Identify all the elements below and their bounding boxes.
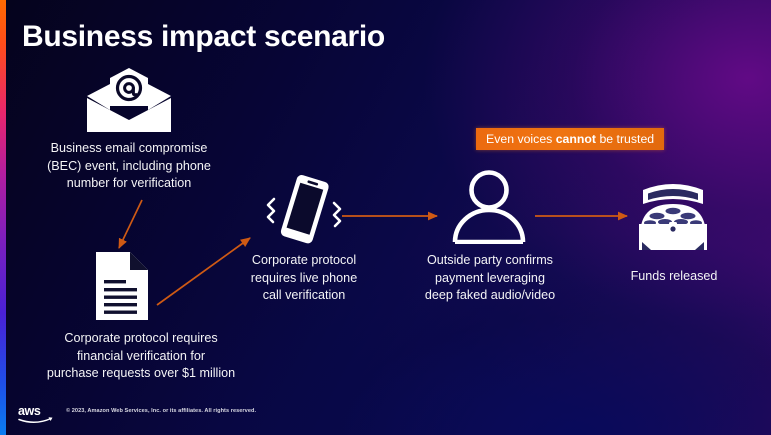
- callout-banner: Even voices cannot be trusted: [476, 128, 664, 150]
- caption-phone-verification: Corporate protocol requires live phone c…: [228, 252, 380, 305]
- slide-canvas: Business impact scenario: [0, 0, 771, 435]
- callout-emphasis: cannot: [556, 132, 596, 146]
- svg-text:aws: aws: [18, 404, 41, 418]
- caption-bec-email: Business email compromise (BEC) event, i…: [20, 140, 238, 193]
- left-gradient-accent-bar: [0, 0, 6, 435]
- callout-suffix: be trusted: [596, 132, 654, 146]
- caption-funds-released: Funds released: [612, 268, 736, 286]
- page-title: Business impact scenario: [22, 20, 385, 54]
- email-envelope-icon: [82, 66, 176, 134]
- vibrating-phone-icon: [258, 172, 350, 248]
- caption-financial-verification: Corporate protocol requires financial ve…: [16, 330, 266, 383]
- callout-prefix: Even voices: [486, 132, 556, 146]
- copyright-notice: © 2023, Amazon Web Services, Inc. or its…: [66, 408, 256, 414]
- treasure-chest-icon: [631, 182, 715, 252]
- caption-outside-party: Outside party confirms payment leveragin…: [390, 252, 590, 305]
- aws-logo: aws: [16, 404, 56, 429]
- document-icon: [92, 250, 154, 322]
- arrow-email-to-document: [119, 200, 142, 248]
- person-icon: [448, 168, 530, 244]
